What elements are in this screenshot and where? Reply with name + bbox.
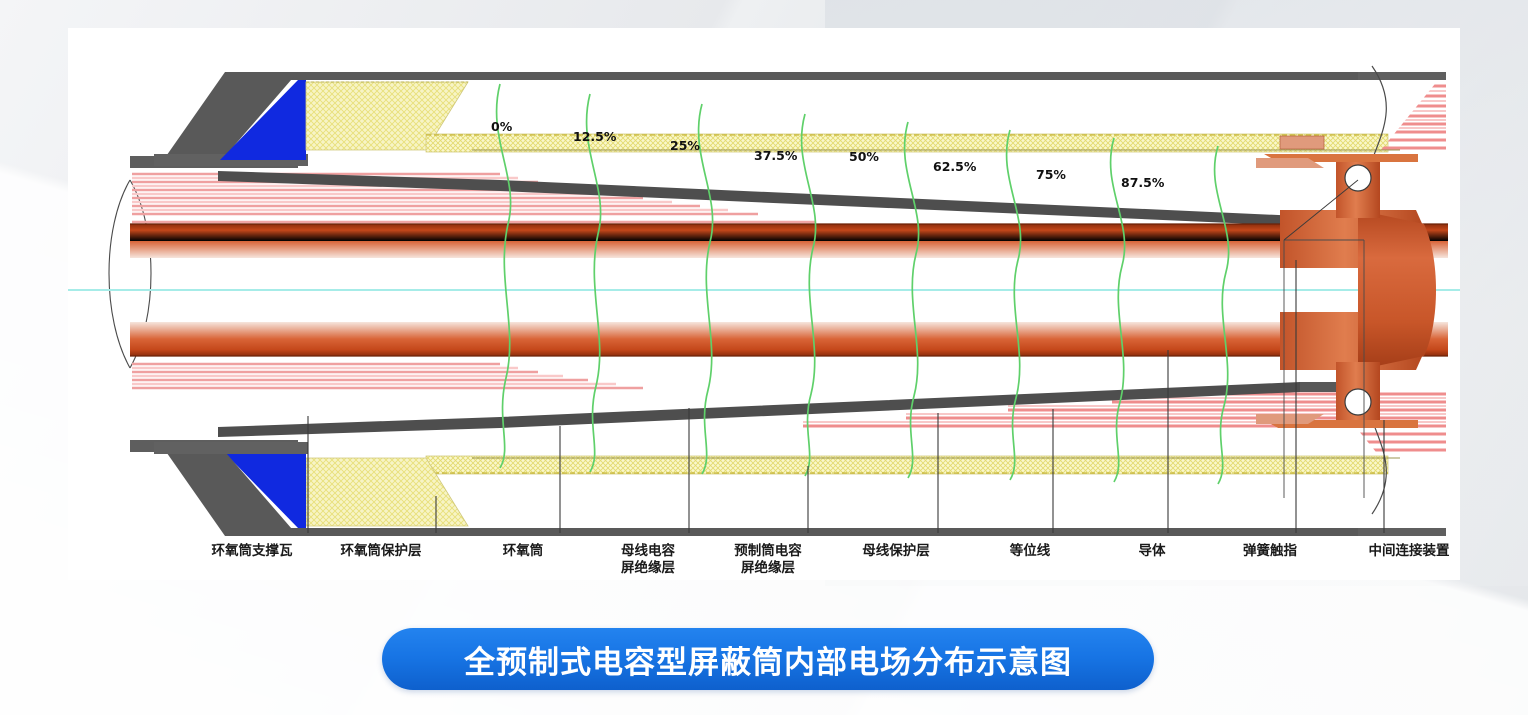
epoxy-layer-copper-patch-upper [1280, 136, 1324, 149]
left-end-arc [109, 180, 130, 368]
equipotential-label: 25% [670, 138, 700, 153]
part-callout-label: 弹簧触指 [1210, 543, 1330, 560]
part-callout-label: 中间连接装置 [1349, 543, 1469, 560]
part-callout-label: 母线保护层 [836, 543, 956, 560]
equipotential-label: 50% [849, 149, 879, 164]
epoxy-thin-layer-lower [426, 456, 1388, 474]
spring-contact-hole-lower [1345, 389, 1371, 415]
part-callout-label: 等位线 [970, 543, 1090, 560]
part-callout-label: 环氧筒支撑瓦 [192, 543, 312, 560]
epoxy-support-wedge-upper-face [298, 80, 306, 160]
equipotential-label: 87.5% [1121, 175, 1164, 190]
field-distribution-diagram [68, 28, 1460, 580]
conductor-upper [130, 224, 1448, 258]
part-callout-label: 环氧筒 [463, 543, 583, 560]
conductor-lower [130, 322, 1448, 356]
part-callout-label: 预制筒电容 屏绝缘层 [708, 543, 828, 577]
part-callout-label: 母线电容 屏绝缘层 [588, 543, 708, 577]
equipotential-label: 37.5% [754, 148, 797, 163]
part-callout-label: 环氧筒保护层 [321, 543, 441, 560]
title-banner-text: 全预制式电容型屏蔽筒内部电场分布示意图 [464, 637, 1072, 682]
epoxy-support-wedge-lower-face [298, 448, 306, 528]
connector-hub [1358, 210, 1436, 370]
diagram-card: 0%12.5%25%37.5%50%62.5%75%87.5% 环氧筒支撑瓦环氧… [68, 28, 1460, 580]
epoxy-thin-layer-upper [426, 134, 1388, 152]
equipotential-label: 62.5% [933, 159, 976, 174]
equipotential-label: 0% [491, 119, 512, 134]
capacitor-stripes-lower-left [132, 364, 643, 388]
equipotential-label: 75% [1036, 167, 1066, 182]
equipotential-label: 12.5% [573, 129, 616, 144]
part-callout-label: 导体 [1092, 543, 1212, 560]
title-banner: 全预制式电容型屏蔽筒内部电场分布示意图 [382, 628, 1154, 690]
